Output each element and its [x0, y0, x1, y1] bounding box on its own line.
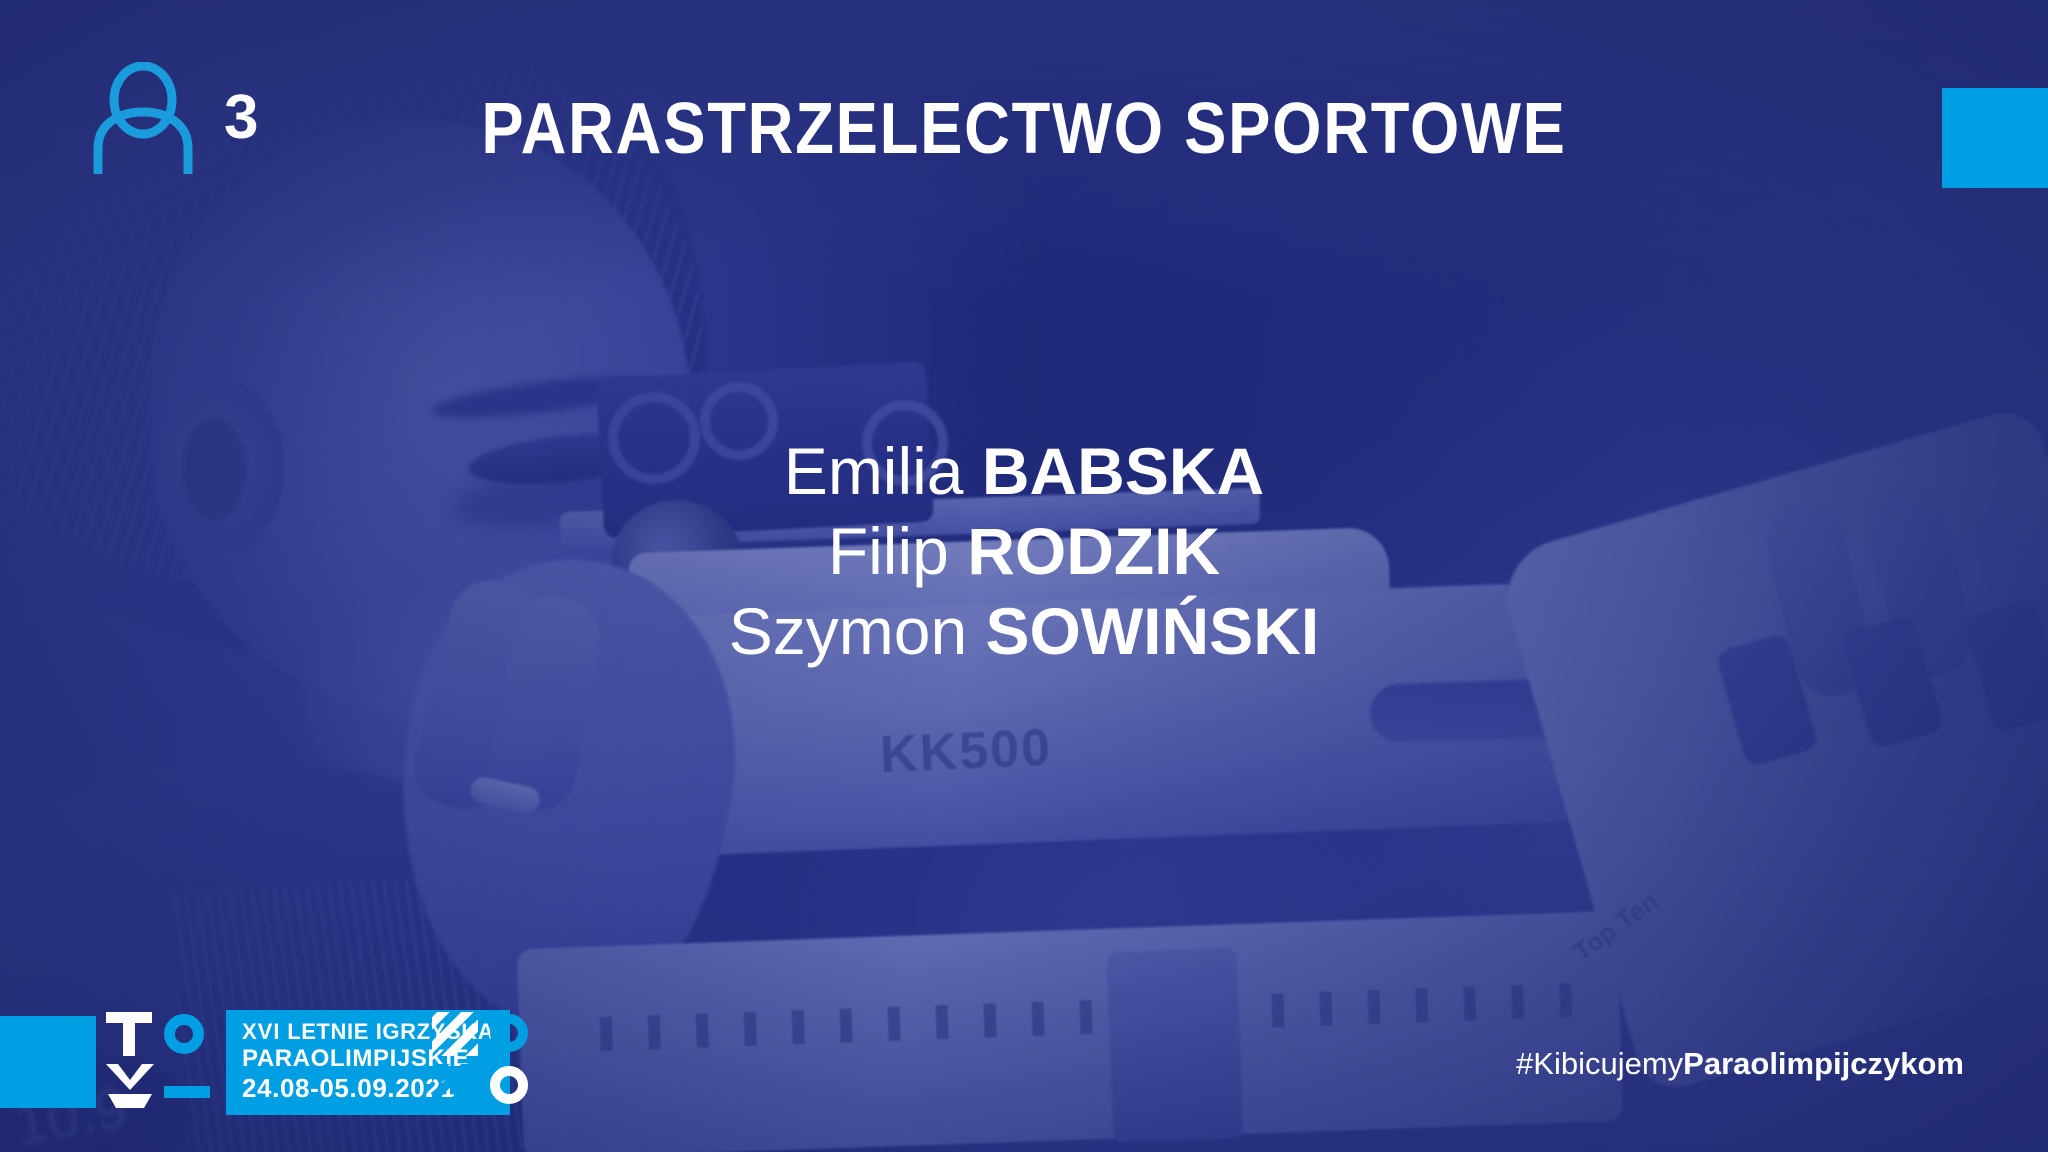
athlete-family-name: SOWIŃSKI: [986, 594, 1320, 668]
athlete-name: Filip RODZIK: [0, 512, 2048, 592]
foreground-layer: 3 PARASTRZELECTWO SPORTOWE Emilia BABSKA…: [0, 0, 2048, 1152]
athlete-given-name: Emilia: [784, 434, 964, 508]
athlete-name-list: Emilia BABSKA Filip RODZIK Szymon SOWIŃS…: [0, 432, 2048, 672]
athlete-given-name: Filip: [828, 514, 949, 588]
paralympic-team-card: KK500 Top Ten 10.9: [0, 0, 2048, 1152]
accent-square: [1942, 88, 2048, 188]
tokyo-letter-dash-icon: [164, 1086, 210, 1098]
hashtag-suffix: Paraolimpijczykom: [1683, 1046, 1964, 1081]
footer-bar: XVI LETNIE IGRZYSKA PARAOLIMPIJSKIE 24.0…: [0, 1000, 2048, 1152]
year-digit-0-white-icon: [490, 1066, 528, 1104]
tokyo-letter-o-icon: [164, 1014, 204, 1054]
footer-accent-square: [0, 1016, 96, 1108]
page-title: PARASTRZELECTWO SPORTOWE: [123, 88, 1925, 170]
campaign-hashtag: #KibicujemyParaolimpijczykom: [1516, 1046, 1964, 1082]
hashtag-prefix: #Kibicujemy: [1516, 1046, 1683, 1081]
year-digit-0-cyan-icon: [490, 1014, 528, 1052]
athlete-given-name: Szymon: [729, 594, 967, 668]
games-roman-numeral: XVI: [242, 1019, 280, 1044]
tokyo-letter-t-icon: [106, 1012, 152, 1056]
athlete-name: Emilia BABSKA: [0, 432, 2048, 512]
tokyo-2020-mark: [106, 1012, 210, 1112]
athlete-name: Szymon SOWIŃSKI: [0, 592, 2048, 672]
athlete-family-name: RODZIK: [967, 514, 1220, 588]
2020-mark: [432, 1012, 532, 1110]
year-digit-2-white-icon: [432, 1012, 478, 1056]
athlete-family-name: BABSKA: [982, 434, 1264, 508]
year-digit-2-cyan-icon: [432, 1064, 478, 1108]
tokyo-letter-k-icon: [106, 1064, 154, 1112]
